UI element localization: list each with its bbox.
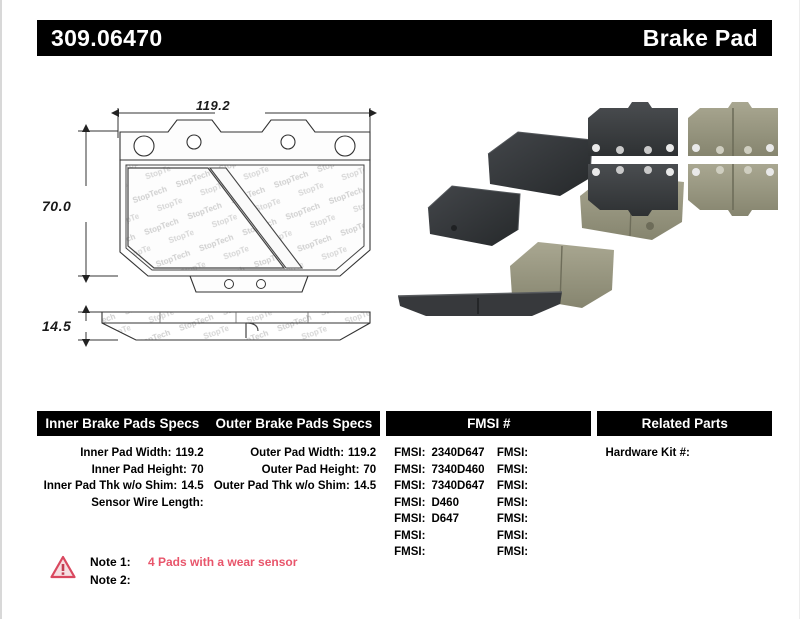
spec-entry: Outer Pad Height:70 (208, 462, 381, 479)
note-2-label: Note 2: (90, 571, 142, 589)
header-outer-specs: Outer Brake Pads Specs (208, 411, 381, 436)
spec-label: FMSI: (394, 546, 425, 558)
related-parts-column: Hardware Kit #: (597, 445, 772, 561)
spec-entry: FMSI:D647 (394, 511, 489, 528)
pad-front-view (120, 120, 370, 292)
spec-label: Sensor Wire Length: (91, 495, 203, 512)
spec-entry: Inner Pad Thk w/o Shim:14.5 (37, 478, 208, 495)
spec-label: FMSI: (497, 497, 528, 509)
spec-entry: Hardware Kit #: (597, 445, 772, 462)
header-related-parts: Related Parts (597, 411, 772, 436)
header-fmsi: FMSI # (386, 411, 591, 436)
spec-entry: FMSI: (497, 445, 592, 462)
header-bar: 309.06470 Brake Pad (37, 20, 772, 56)
warning-icon (50, 555, 76, 579)
fmsi-sub-left: FMSI:2340D647FMSI:7340D460FMSI:7340D647F… (386, 445, 489, 561)
drawing-svg: StopTech StopTech (40, 80, 390, 380)
spec-value: 7340D647 (431, 480, 484, 492)
note-1-label: Note 1: (90, 553, 142, 571)
spec-label: FMSI: (497, 530, 528, 542)
table-body: Inner Pad Width:119.2Inner Pad Height:70… (37, 436, 772, 561)
height-dimension (78, 131, 118, 276)
spec-entry: FMSI:2340D647 (394, 445, 489, 462)
photo-edge-profile (398, 292, 562, 316)
spec-entry: FMSI: (497, 544, 592, 561)
spec-label: Inner Pad Thk w/o Shim: (44, 478, 178, 495)
spec-value: D647 (431, 513, 459, 525)
spec-label: FMSI: (394, 497, 425, 509)
spec-entry: FMSI:7340D460 (394, 462, 489, 479)
spec-label: FMSI: (497, 447, 528, 459)
spec-label: Outer Pad Width: (250, 445, 344, 462)
spec-label: FMSI: (394, 464, 425, 476)
spec-label: FMSI: (394, 480, 425, 492)
spec-entry: Outer Pad Width:119.2 (208, 445, 381, 462)
spec-label: Outer Pad Thk w/o Shim: (214, 478, 350, 495)
spec-entry: FMSI: (497, 462, 592, 479)
spec-value: 119.2 (348, 445, 376, 462)
spec-value: 14.5 (354, 478, 376, 495)
spec-value: 70 (363, 462, 376, 479)
spec-value: 2340D647 (431, 447, 484, 459)
spec-entry: FMSI: (497, 511, 592, 528)
spec-entry: FMSI:7340D647 (394, 478, 489, 495)
spec-entry: FMSI: (497, 495, 592, 512)
spec-label: FMSI: (497, 513, 528, 525)
spec-entry: Inner Pad Width:119.2 (37, 445, 208, 462)
inner-specs-column: Inner Pad Width:119.2Inner Pad Height:70… (37, 445, 208, 561)
spec-entry: FMSI: (497, 478, 592, 495)
spec-value: D460 (431, 497, 459, 509)
spec-entry: Outer Pad Thk w/o Shim:14.5 (208, 478, 381, 495)
header-inner-specs: Inner Brake Pads Specs (37, 411, 208, 436)
note-1-text: 4 Pads with a wear sensor (148, 553, 297, 571)
spec-label: FMSI: (394, 447, 425, 459)
spec-label: FMSI: (497, 480, 528, 492)
spec-value: 7340D460 (431, 464, 484, 476)
spec-entry: FMSI:D460 (394, 495, 489, 512)
notes-section: Note 1: 4 Pads with a wear sensor Note 2… (50, 553, 297, 589)
spec-entry: FMSI: (394, 528, 489, 545)
spec-entry: Inner Pad Height:70 (37, 462, 208, 479)
notes-lines: Note 1: 4 Pads with a wear sensor Note 2… (90, 553, 297, 589)
spec-entry: FMSI: (497, 528, 592, 545)
thickness-dimension-label: 14.5 (42, 318, 71, 334)
spec-value: 119.2 (175, 445, 203, 462)
part-number: 309.06470 (51, 25, 162, 52)
spec-table: Inner Brake Pads Specs Outer Brake Pads … (37, 411, 772, 561)
spec-label: Hardware Kit #: (605, 447, 689, 459)
product-photos (392, 78, 782, 368)
spec-label: Outer Pad Height: (262, 462, 360, 479)
table-header-row: Inner Brake Pads Specs Outer Brake Pads … (37, 411, 772, 436)
note-row: Note 1: 4 Pads with a wear sensor (90, 553, 297, 571)
product-type: Brake Pad (643, 25, 758, 52)
spec-label: FMSI: (394, 530, 425, 542)
spec-entry: Sensor Wire Length: (37, 495, 208, 512)
spec-label: Inner Pad Height: (92, 462, 187, 479)
spec-label: FMSI: (497, 546, 528, 558)
spec-value: 70 (191, 462, 204, 479)
fmsi-column: FMSI:2340D647FMSI:7340D460FMSI:7340D647F… (386, 445, 591, 561)
spec-label: FMSI: (394, 513, 425, 525)
photos-svg (392, 78, 782, 368)
height-dimension-label: 70.0 (42, 198, 71, 214)
spec-label: Inner Pad Width: (80, 445, 171, 462)
outer-specs-column: Outer Pad Width:119.2Outer Pad Height:70… (208, 445, 381, 561)
spec-label: FMSI: (497, 464, 528, 476)
photo-angled-set (428, 132, 684, 308)
pad-side-view (78, 312, 370, 340)
technical-drawing: StopTech StopTech (40, 80, 390, 380)
width-dimension-label: 119.2 (196, 98, 230, 113)
fmsi-sub-right: FMSI:FMSI:FMSI:FMSI:FMSI:FMSI:FMSI: (489, 445, 592, 561)
spec-value: 14.5 (181, 478, 203, 495)
note-row: Note 2: (90, 571, 297, 589)
spec-entry: FMSI: (394, 544, 489, 561)
